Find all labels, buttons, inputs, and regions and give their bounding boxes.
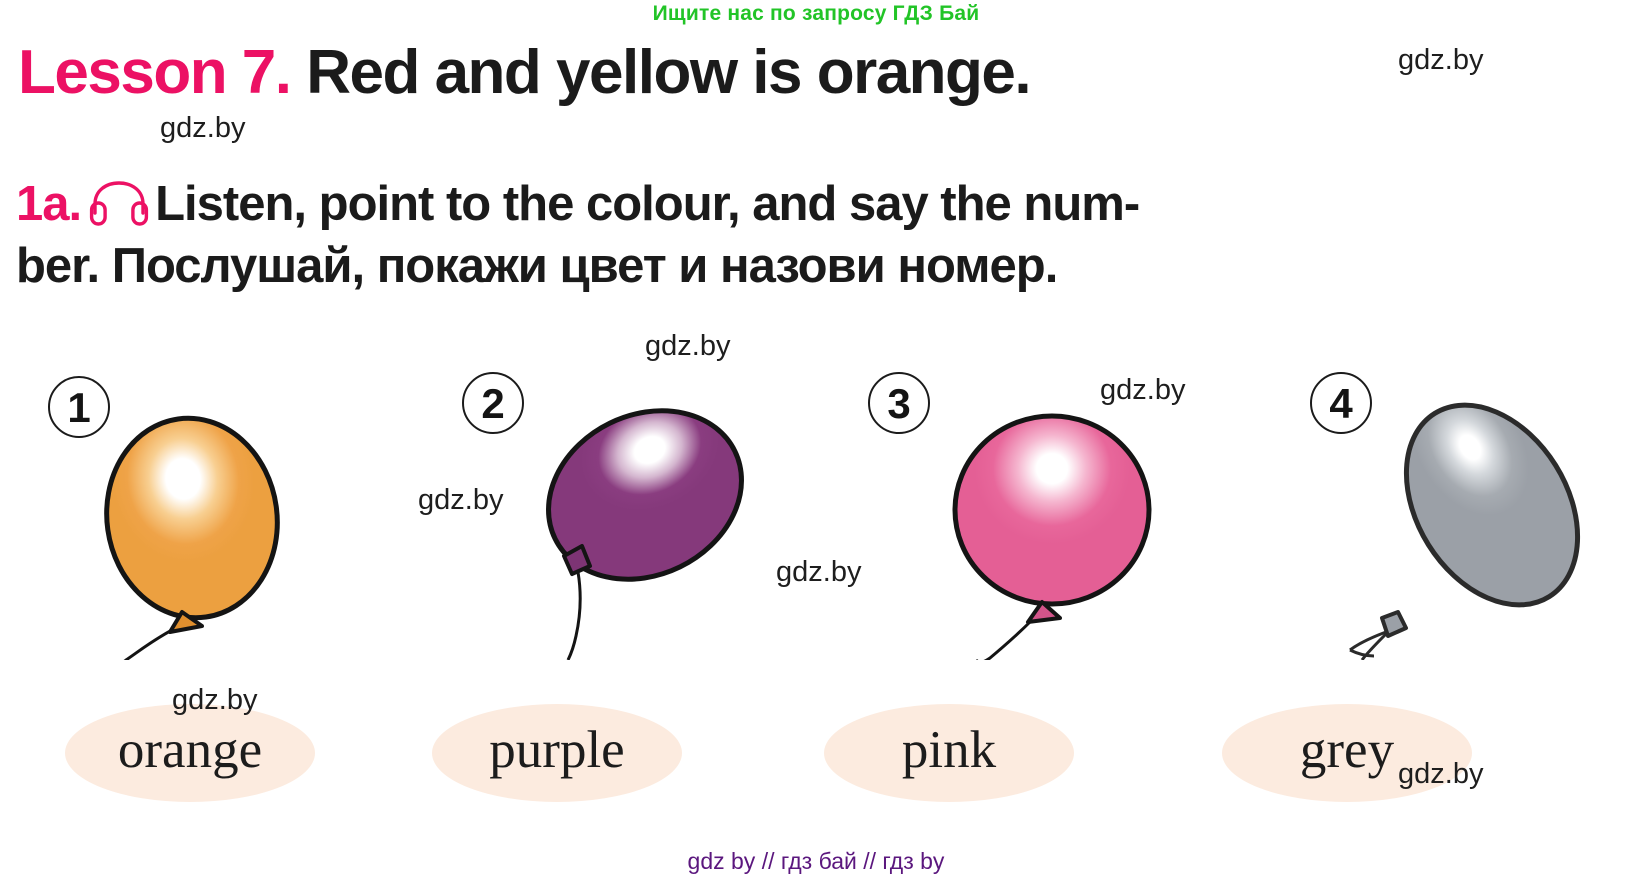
balloon-number-badge-2: 2 <box>462 372 524 434</box>
balloon-grey-icon <box>1250 360 1632 660</box>
task-instruction: 1a. Listen, point to the colour, and say… <box>16 176 1624 295</box>
task-text-english: Listen, point to the colour, and say the… <box>155 177 1139 231</box>
balloon-number-badge-4: 4 <box>1310 372 1372 434</box>
watermark-text: gdz.by <box>776 556 861 589</box>
watermark-text: gdz.by <box>645 330 730 363</box>
watermark-text: gdz.by <box>160 112 245 145</box>
watermark-text: gdz.by <box>172 684 257 717</box>
page-title: Lesson 7. Red and yellow is orange. <box>18 42 1030 104</box>
colour-word-purple[interactable]: purple <box>432 700 732 806</box>
watermark-text: gdz.by <box>418 484 503 517</box>
balloon-number-badge-1: 1 <box>48 376 110 438</box>
balloon-row: 1 2 <box>0 360 1632 660</box>
task-number: 1a. <box>16 177 81 231</box>
balloon-number-badge-3: 3 <box>868 372 930 434</box>
word-label-3: pink <box>824 720 1074 780</box>
task-text-russian: ber. Послушай, покажи цвет и назови номе… <box>16 239 1057 293</box>
watermark-text: gdz.by <box>1398 758 1483 791</box>
watermark-text: gdz.by <box>1398 44 1483 77</box>
footer-links: gdz by // гдз бай // гдз by <box>0 848 1632 875</box>
watermark-text: gdz.by <box>1100 374 1185 407</box>
word-label-2: purple <box>432 720 682 780</box>
lesson-title-text: Red and yellow is orange. <box>291 38 1031 107</box>
lesson-label: Lesson 7. <box>18 38 291 107</box>
balloon-item-4[interactable]: 4 <box>1250 360 1632 660</box>
colour-word-pink[interactable]: pink <box>824 700 1124 806</box>
word-label-1: orange <box>65 720 315 780</box>
promo-banner: Ищите нас по запросу ГДЗ Бай <box>0 2 1632 26</box>
headphones-icon <box>89 180 149 238</box>
worksheet-page: Ищите нас по запросу ГДЗ Бай Lesson 7. R… <box>0 0 1632 890</box>
balloon-item-1[interactable]: 1 <box>20 360 420 660</box>
